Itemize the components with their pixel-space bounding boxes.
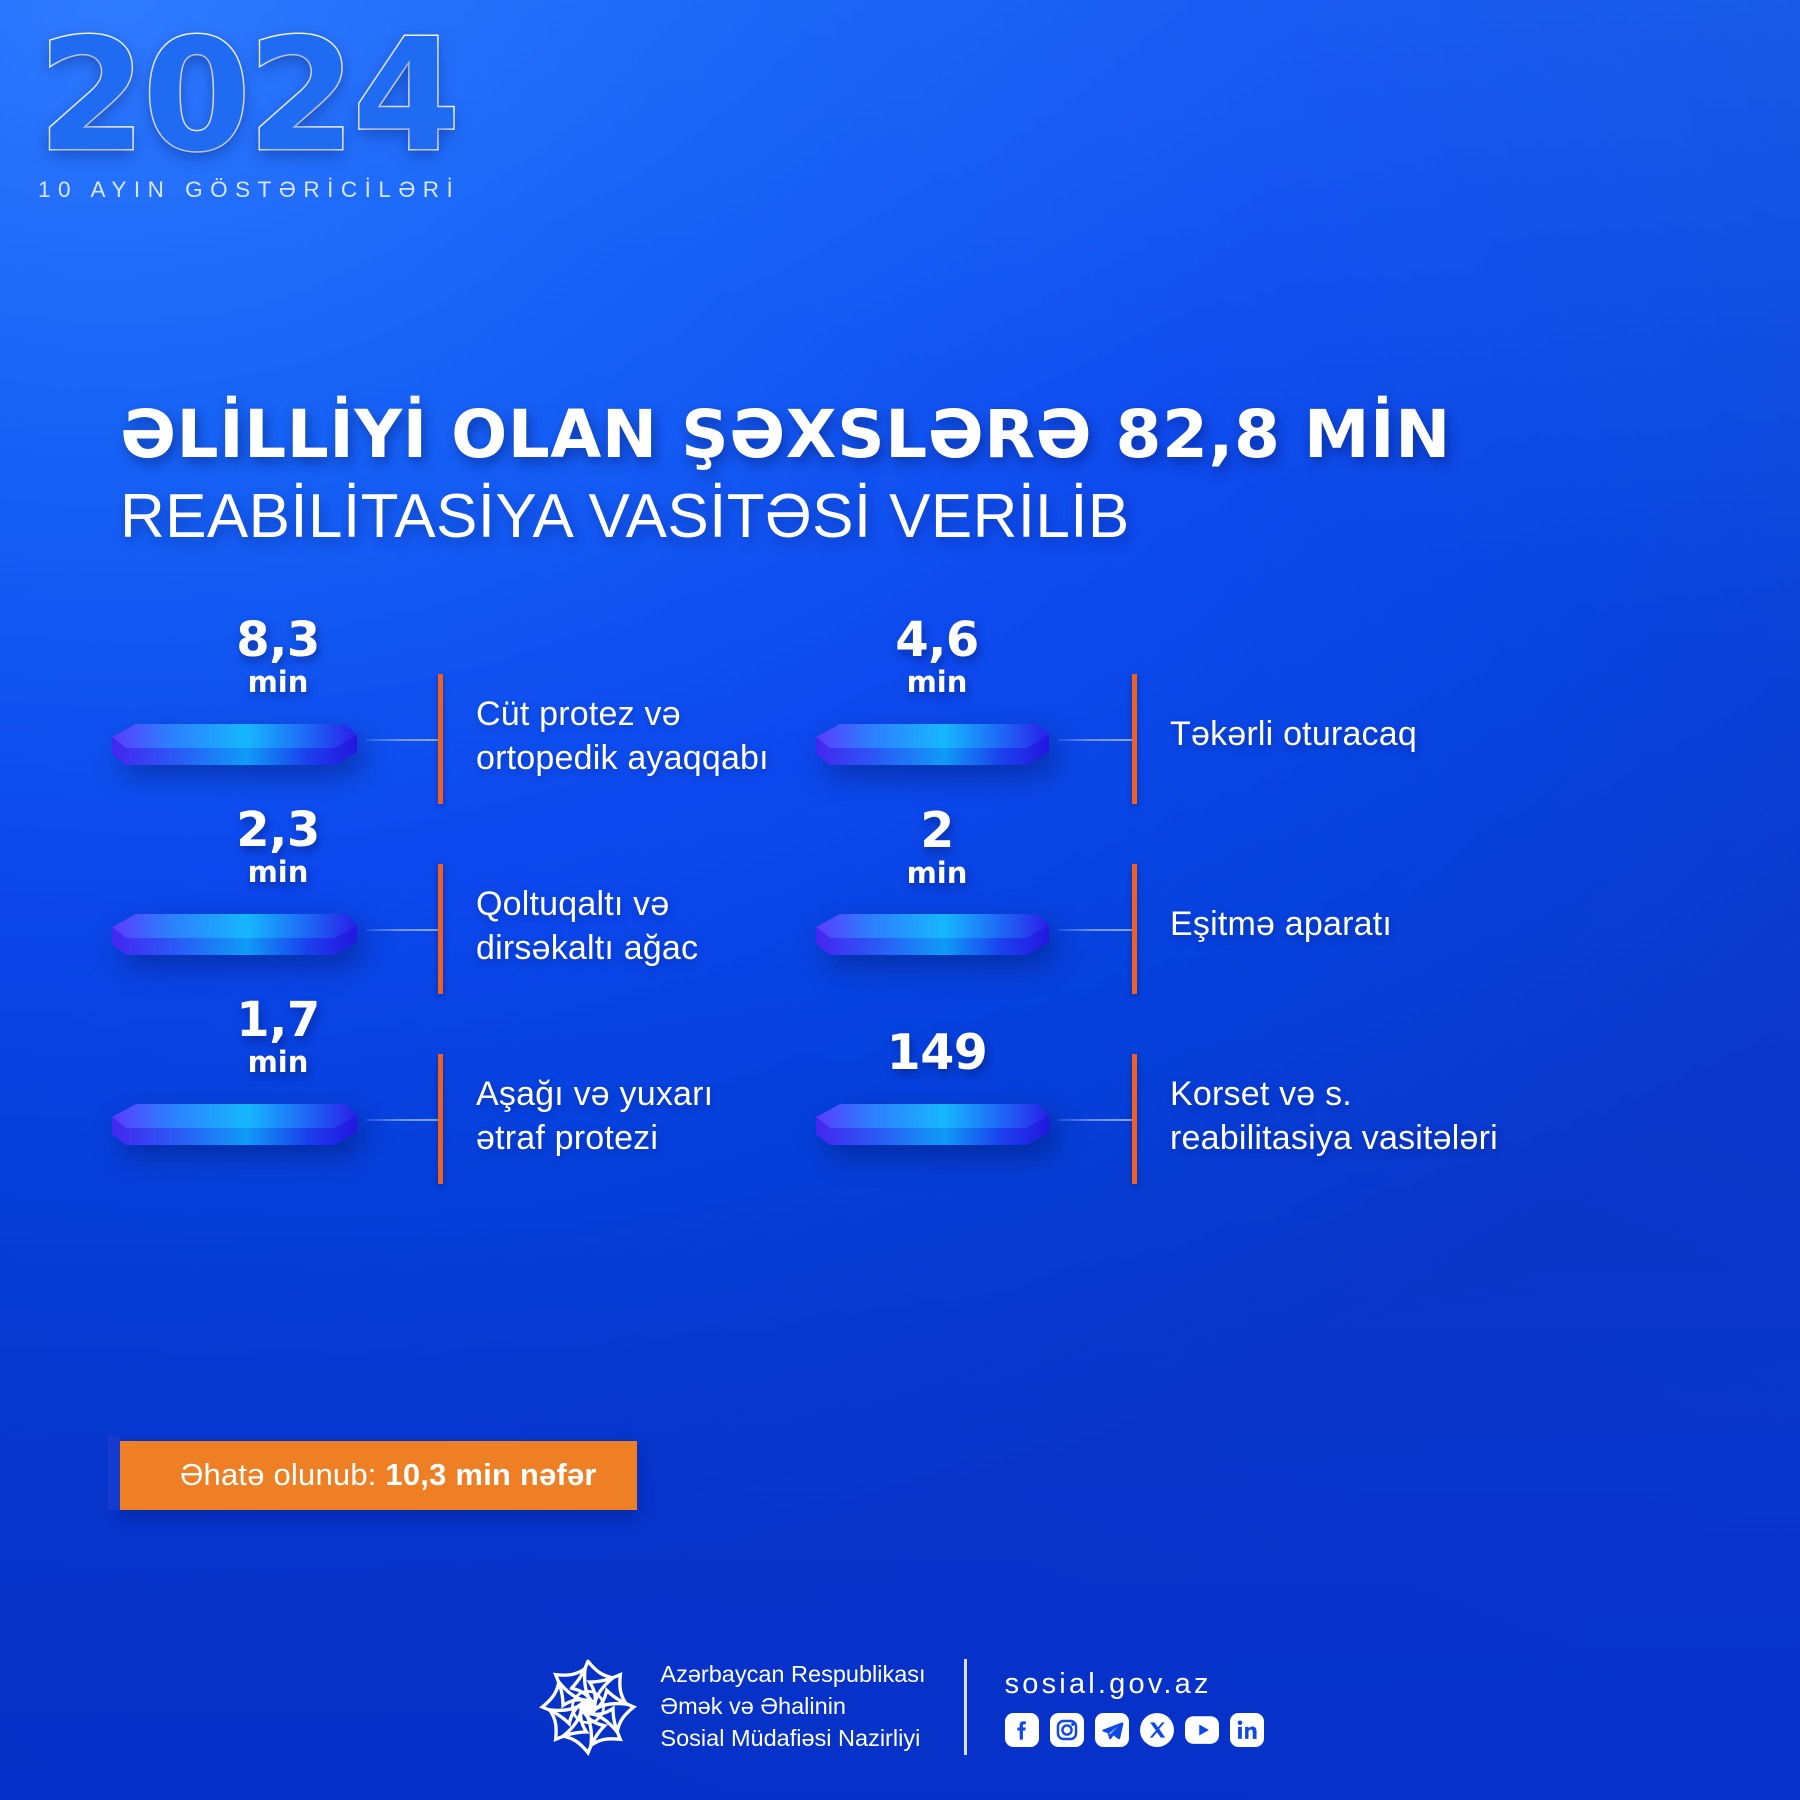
youtube-icon[interactable] — [1185, 1713, 1219, 1747]
stat-connector — [366, 929, 438, 931]
ministry-name-line-2: Əmək və Əhalinin — [660, 1691, 925, 1723]
stat-label: Təkərli oturacaq — [1170, 712, 1710, 756]
stat-tick-marker — [1132, 1054, 1137, 1184]
stat-bar — [816, 912, 1049, 970]
stat-tick-marker — [438, 864, 443, 994]
stat-label: Korset və s. reabilitasiya vasitələri — [1170, 1072, 1730, 1160]
stat-figure: 149 — [812, 992, 1152, 1182]
stat-item: 4,6 min — [812, 612, 1712, 802]
stat-label-line-1: Korset və s. — [1170, 1072, 1730, 1116]
stat-value: 2,3 — [108, 806, 448, 854]
stat-item: 8,3 min — [108, 612, 928, 802]
page-title: ƏLİLLİYİ OLAN ŞƏXSLƏRƏ 82,8 MİN REABİLİT… — [120, 400, 1680, 549]
website-url[interactable]: sosial.gov.az — [1005, 1668, 1212, 1701]
stat-value-group: 4,6 min — [812, 616, 1062, 700]
stat-figure: 1,7 min — [108, 992, 448, 1182]
linkedin-icon[interactable] — [1230, 1713, 1264, 1747]
year-logo: 2024 — [38, 18, 468, 173]
stat-unit: min — [108, 1044, 448, 1080]
stat-value: 2 — [812, 806, 1062, 855]
footer-divider — [964, 1659, 967, 1755]
stat-item: 2,3 min — [108, 802, 928, 992]
badge-left-edge — [108, 1435, 120, 1510]
badge-value: 10,3 min nəfər — [385, 1457, 596, 1492]
stat-bar — [112, 912, 357, 970]
ministry-star-logo-icon — [536, 1655, 640, 1759]
ministry-name: Azərbaycan Respublikası Əmək və Əhalinin… — [660, 1659, 925, 1754]
stat-unit: min — [108, 854, 448, 890]
stat-label-line-1: Təkərli oturacaq — [1170, 712, 1710, 756]
stat-value-group: 2,3 min — [108, 806, 448, 890]
stat-connector — [366, 739, 438, 741]
stat-figure: 2,3 min — [108, 802, 448, 992]
stats-grid: 8,3 min — [0, 612, 1800, 1172]
stat-value-group: 1,7 min — [108, 996, 448, 1080]
stat-value-group: 149 — [812, 1028, 1062, 1077]
stat-unit: min — [812, 664, 1062, 700]
stat-value: 8,3 — [108, 616, 448, 664]
telegram-icon[interactable] — [1095, 1713, 1129, 1747]
stat-label: Eşitmə aparatı — [1170, 902, 1710, 946]
stat-connector — [1058, 739, 1132, 741]
stat-unit: min — [812, 855, 1062, 891]
ministry-name-line-1: Azərbaycan Respublikası — [660, 1659, 925, 1691]
year-logo-block: 2024 10 AYIN GÖSTƏRİCİLƏRİ — [38, 18, 468, 203]
instagram-icon[interactable] — [1050, 1713, 1084, 1747]
stat-connector — [1058, 929, 1132, 931]
ministry-name-line-3: Sosial Müdafiəsi Nazirliyi — [660, 1723, 925, 1755]
stat-value-group: 8,3 min — [108, 616, 448, 700]
footer-contact: sosial.gov.az — [1005, 1668, 1264, 1747]
stat-bar — [112, 722, 357, 780]
stat-item: 1,7 min — [108, 992, 928, 1182]
stat-figure: 2 min — [812, 802, 1152, 992]
year-subtitle: 10 AYIN GÖSTƏRİCİLƏRİ — [38, 177, 468, 203]
stat-item: 2 min — [812, 802, 1712, 992]
x-icon[interactable] — [1140, 1713, 1174, 1747]
stat-tick-marker — [438, 674, 443, 804]
infographic-page: 2024 10 AYIN GÖSTƏRİCİLƏRİ ƏLİLLİYİ OLAN… — [0, 0, 1800, 1800]
stat-label-line-2: reabilitasiya vasitələri — [1170, 1116, 1730, 1160]
stat-connector — [366, 1119, 438, 1121]
title-line-2: REABİLİTASİYA VASİTƏSİ VERİLİB — [120, 484, 1680, 549]
stat-value: 4,6 — [812, 616, 1062, 664]
stat-bar — [112, 1102, 357, 1160]
stat-figure: 4,6 min — [812, 612, 1152, 802]
stat-bar — [816, 1102, 1049, 1160]
stat-value-group: 2 min — [812, 806, 1062, 891]
badge-prefix: Əhatə olunub: — [180, 1457, 377, 1492]
stat-bar — [816, 722, 1049, 780]
title-line-1: ƏLİLLİYİ OLAN ŞƏXSLƏRƏ 82,8 MİN — [120, 400, 1680, 470]
social-links — [1005, 1713, 1264, 1747]
status-badge: Əhatə olunub: 10,3 min nəfər — [120, 1441, 637, 1510]
stat-tick-marker — [438, 1054, 443, 1184]
stat-tick-marker — [1132, 674, 1137, 804]
stat-item: 149 — [812, 992, 1712, 1182]
stat-value: 1,7 — [108, 996, 448, 1044]
facebook-icon[interactable] — [1005, 1713, 1039, 1747]
stat-connector — [1058, 1119, 1132, 1121]
stat-value: 149 — [812, 1028, 1062, 1077]
stat-label-line-1: Eşitmə aparatı — [1170, 902, 1710, 946]
coverage-badge-wrap: Əhatə olunub: 10,3 min nəfər — [120, 1441, 637, 1510]
stat-unit: min — [108, 664, 448, 700]
footer: Azərbaycan Respublikası Əmək və Əhalinin… — [0, 1632, 1800, 1782]
stat-figure: 8,3 min — [108, 612, 448, 802]
stat-tick-marker — [1132, 864, 1137, 994]
